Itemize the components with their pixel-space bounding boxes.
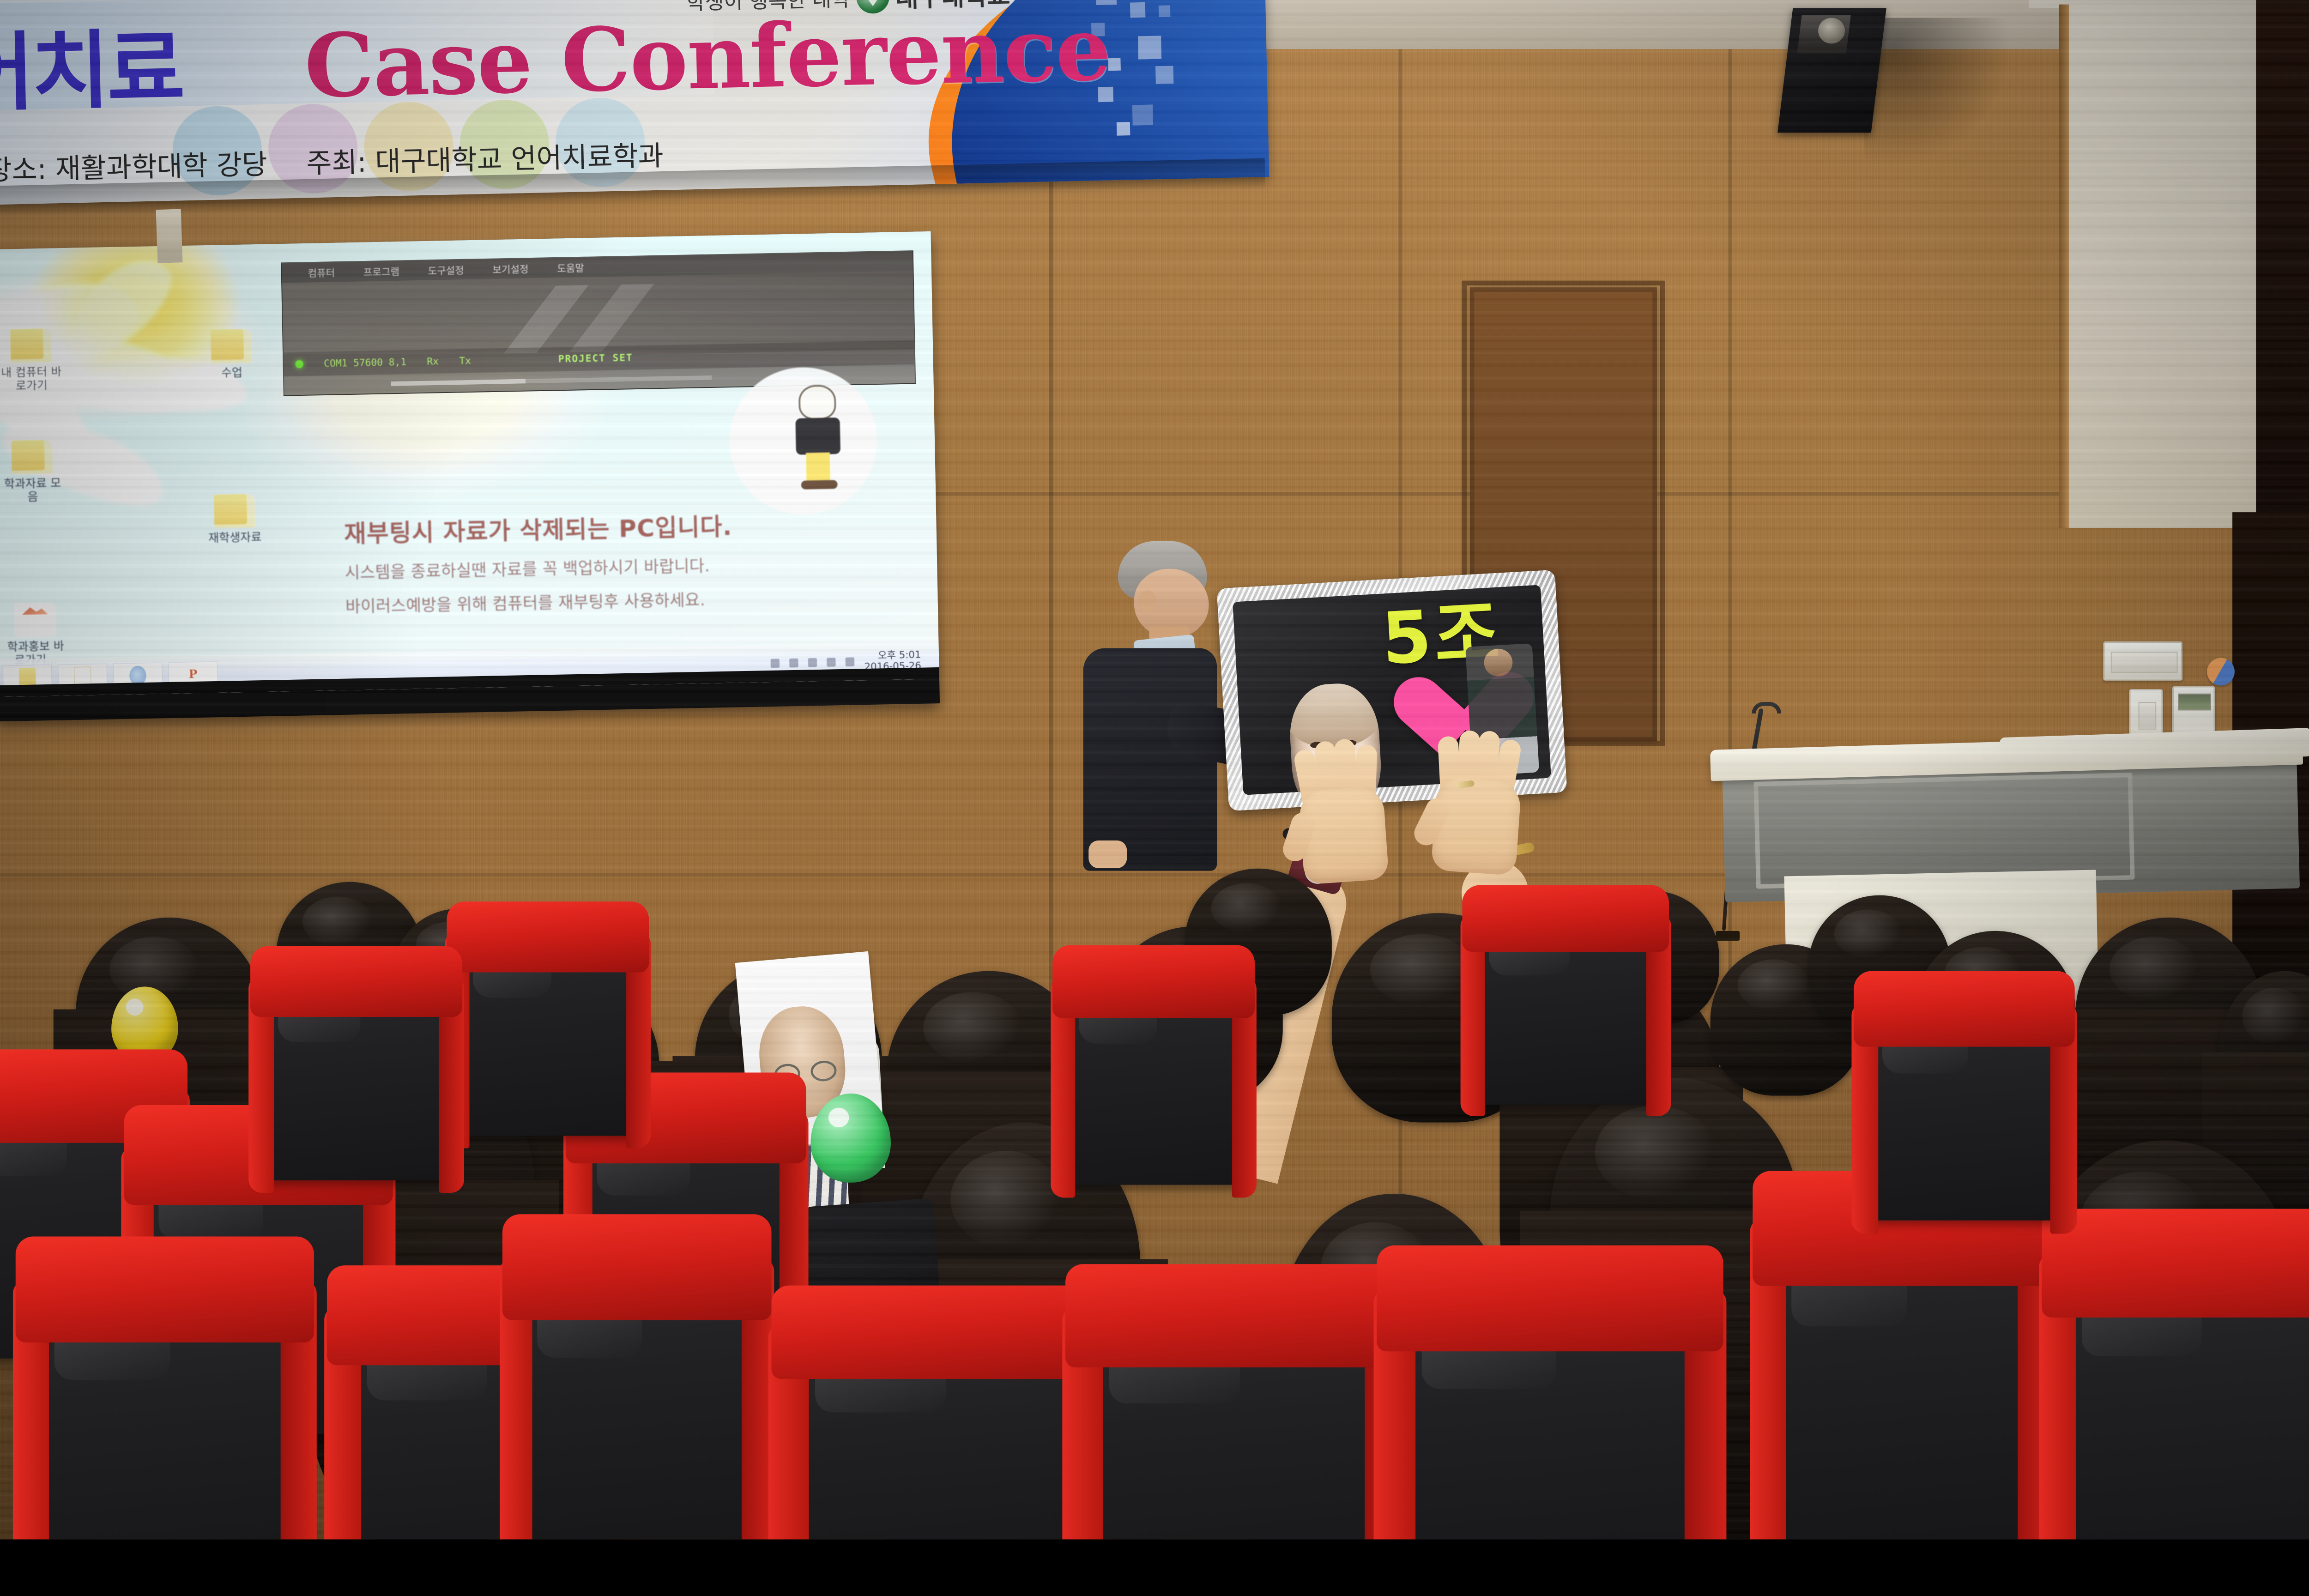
- folder-icon: [11, 440, 53, 474]
- seat-headrest: [447, 901, 649, 973]
- desktop-icon-4[interactable]: 재학생자료: [201, 494, 269, 546]
- mascot-character-icon: [791, 384, 846, 488]
- university-emblem-icon: [856, 0, 889, 14]
- clock-time: 오후 5:01: [878, 649, 921, 661]
- speaker-shadow: [1864, 18, 2011, 165]
- status-project-set: PROJECT SET: [558, 352, 633, 365]
- notice-line-3: 바이러스예방을 위해 컴퓨터를 재부팅후 사용하세요.: [345, 583, 893, 617]
- decorative-ball: [2207, 658, 2235, 686]
- seat-headrest: [772, 1285, 1108, 1379]
- speaker-cone: [1818, 18, 1845, 44]
- connection-led-icon: [295, 360, 303, 369]
- folder-icon: [10, 328, 52, 363]
- thermostat-lcd: [2178, 694, 2211, 711]
- window-watermark-logo: [474, 284, 680, 354]
- projected-desktop: 내 컴퓨터 바로가기수업학과자료 모음재학생자료학과홍보 바로가기... 컴퓨터…: [0, 231, 939, 697]
- auditorium-seat: [454, 926, 641, 1136]
- presenter-other-hand: [1088, 840, 1127, 868]
- menu-item-5[interactable]: 도움말: [557, 260, 584, 275]
- auditorium-seat: [258, 971, 454, 1180]
- seat-headrest: [16, 1236, 314, 1342]
- seat-headrest: [1052, 945, 1254, 1018]
- ime-icon[interactable]: [827, 658, 836, 667]
- university-name: 대구대학교: [895, 0, 1010, 14]
- projection-screen: 내 컴퓨터 바로가기수업학과자료 모음재학생자료학과홍보 바로가기... 컴퓨터…: [0, 231, 940, 721]
- window-progress-bar: [391, 375, 712, 386]
- right-doorway-dark: [2256, 0, 2309, 534]
- auditorium-seat: [1470, 909, 1662, 1105]
- status-com-port: COM1 57600 8,1: [324, 357, 406, 369]
- folder-icon: [214, 494, 255, 528]
- raised-hand-left: [1287, 736, 1399, 890]
- auditorium-seat: [784, 1318, 1096, 1539]
- auditorium-seat: [2053, 1247, 2309, 1540]
- auditorium-seat: [1862, 997, 2067, 1220]
- placard-handle: [156, 209, 183, 263]
- right-wall-plaster: [2067, 5, 2258, 528]
- presenter-ear: [1138, 590, 1156, 612]
- network-icon[interactable]: [808, 658, 817, 667]
- auditorium-seat: [27, 1274, 303, 1539]
- desktop-icon-label: 학과자료 모음: [0, 477, 66, 505]
- desktop-icon-label: 내 컴퓨터 바로가기: [0, 366, 65, 393]
- auditorium-seat: [1390, 1283, 1710, 1540]
- notice-line-2: 시스템을 종료하실땐 자료를 꼭 백업하시기 바랍니다.: [345, 549, 893, 583]
- desktop-icon-label: 재학생자료: [201, 531, 268, 546]
- menu-item-4[interactable]: 보기설정: [492, 261, 529, 276]
- seat-headrest: [1377, 1245, 1723, 1352]
- auditorium-photo: 언어치료 Case Conference 학생이 행복한 대학 대구대학교 후 …: [0, 0, 2309, 1539]
- notice-line-1: 재부팅시 자료가 삭제되는 PC입니다.: [344, 504, 892, 550]
- light-switch-panel[interactable]: [2103, 641, 2182, 681]
- desktop-icon-3[interactable]: 학과자료 모음: [0, 440, 66, 505]
- menu-item-1[interactable]: 컴퓨터: [308, 265, 335, 280]
- picture-icon: [14, 603, 56, 637]
- cable-clip: [1716, 931, 1740, 941]
- desktop-icon-2[interactable]: 수업: [198, 329, 266, 381]
- seat-headrest: [1854, 971, 2075, 1047]
- seat-headrest: [2042, 1209, 2309, 1318]
- seat-headrest: [1462, 885, 1669, 952]
- usb-icon[interactable]: [846, 657, 855, 666]
- folder-icon: [211, 329, 252, 363]
- university-slogan: 학생이 행복한 대학: [686, 0, 850, 16]
- seat-headrest: [250, 946, 462, 1017]
- shield-icon[interactable]: [771, 659, 780, 668]
- auditorium-seat: [1764, 1211, 2040, 1539]
- status-tx: Tx: [459, 355, 471, 367]
- raised-hand-right: [1422, 727, 1535, 881]
- auditorium-seat: [1060, 971, 1247, 1185]
- pc-reboot-notice: 재부팅시 자료가 삭제되는 PC입니다. 시스템을 종료하실땐 자료를 꼭 백업…: [344, 504, 893, 617]
- menu-item-3[interactable]: 도구설정: [428, 263, 464, 278]
- volume-icon[interactable]: [789, 659, 798, 668]
- desktop-icon-label: 수업: [198, 366, 265, 381]
- seat-headrest: [502, 1214, 772, 1320]
- menu-item-2[interactable]: 프로그램: [363, 264, 400, 278]
- desktop-icon-5[interactable]: 학과홍보 바로가기...: [1, 586, 69, 668]
- status-rx: Rx: [427, 356, 439, 368]
- right-wall-edge-trim: [2059, 5, 2069, 528]
- desktop-icon-1[interactable]: 내 컴퓨터 바로가기: [0, 328, 65, 393]
- seat-headrest: [1065, 1264, 1402, 1367]
- auditorium-seat: [512, 1251, 762, 1539]
- presenter-dark-jacket: [1083, 648, 1217, 871]
- auditorium-seat: [1078, 1300, 1390, 1539]
